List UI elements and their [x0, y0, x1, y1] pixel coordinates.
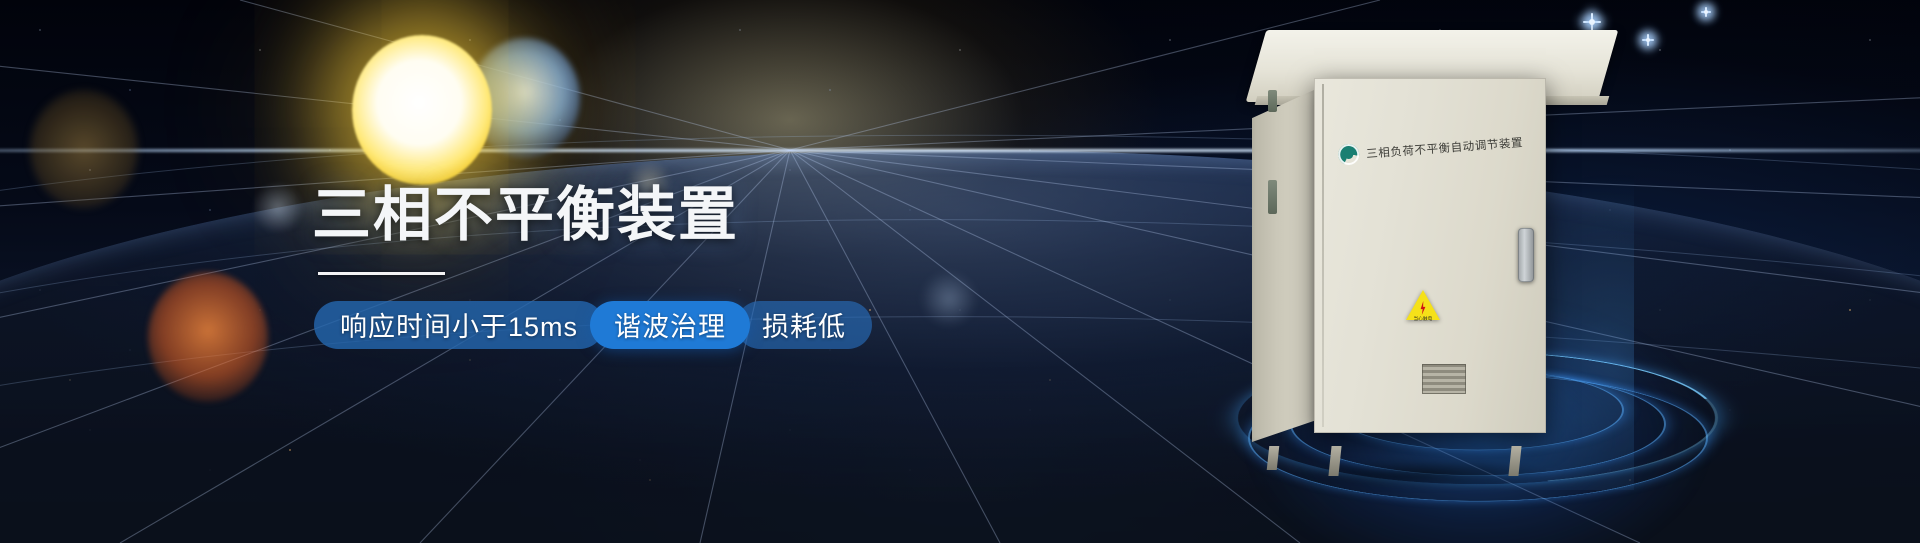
feature-pill-list: 响应时间小于15ms 谐波治理 损耗低: [314, 301, 952, 349]
warning-label: 当心触电: [1410, 316, 1436, 322]
product-cabinet: 三相负荷不平衡自动调节装置 当心触电: [1314, 30, 1624, 450]
high-voltage-warning-icon: 当心触电: [1406, 290, 1440, 321]
cabinet-brand: 三相负荷不平衡自动调节装置: [1337, 131, 1523, 166]
banner-text-block: 三相不平衡装置 响应时间小于15ms 谐波治理 损耗低: [312, 185, 952, 349]
cabinet-door-handle: [1518, 228, 1534, 282]
cabinet-hinge-bottom: [1268, 180, 1277, 214]
page-title: 三相不平衡装置: [312, 185, 952, 247]
cabinet-vent-grille: [1422, 364, 1466, 394]
cabinet-side-panel: [1252, 90, 1314, 442]
cabinet-brand-text: 三相负荷不平衡自动调节装置: [1366, 134, 1524, 161]
cabinet-hinge-top: [1268, 90, 1277, 112]
cabinet-front-door: 三相负荷不平衡自动调节装置 当心触电: [1314, 78, 1546, 433]
teal-swirl-logo-icon: [1337, 143, 1359, 165]
feature-pill-response-time[interactable]: 响应时间小于15ms: [314, 301, 604, 349]
light-rays: [0, 0, 1920, 543]
hero-banner: 三相负荷不平衡自动调节装置 当心触电 三相不平衡装置 响应时间小于15ms 谐波…: [0, 0, 1920, 543]
feature-pill-low-loss[interactable]: 损耗低: [736, 301, 872, 349]
cabinet-shadow: [1244, 454, 1604, 494]
feature-pill-harmonic-treatment[interactable]: 谐波治理: [590, 301, 750, 349]
title-divider: [318, 272, 445, 275]
